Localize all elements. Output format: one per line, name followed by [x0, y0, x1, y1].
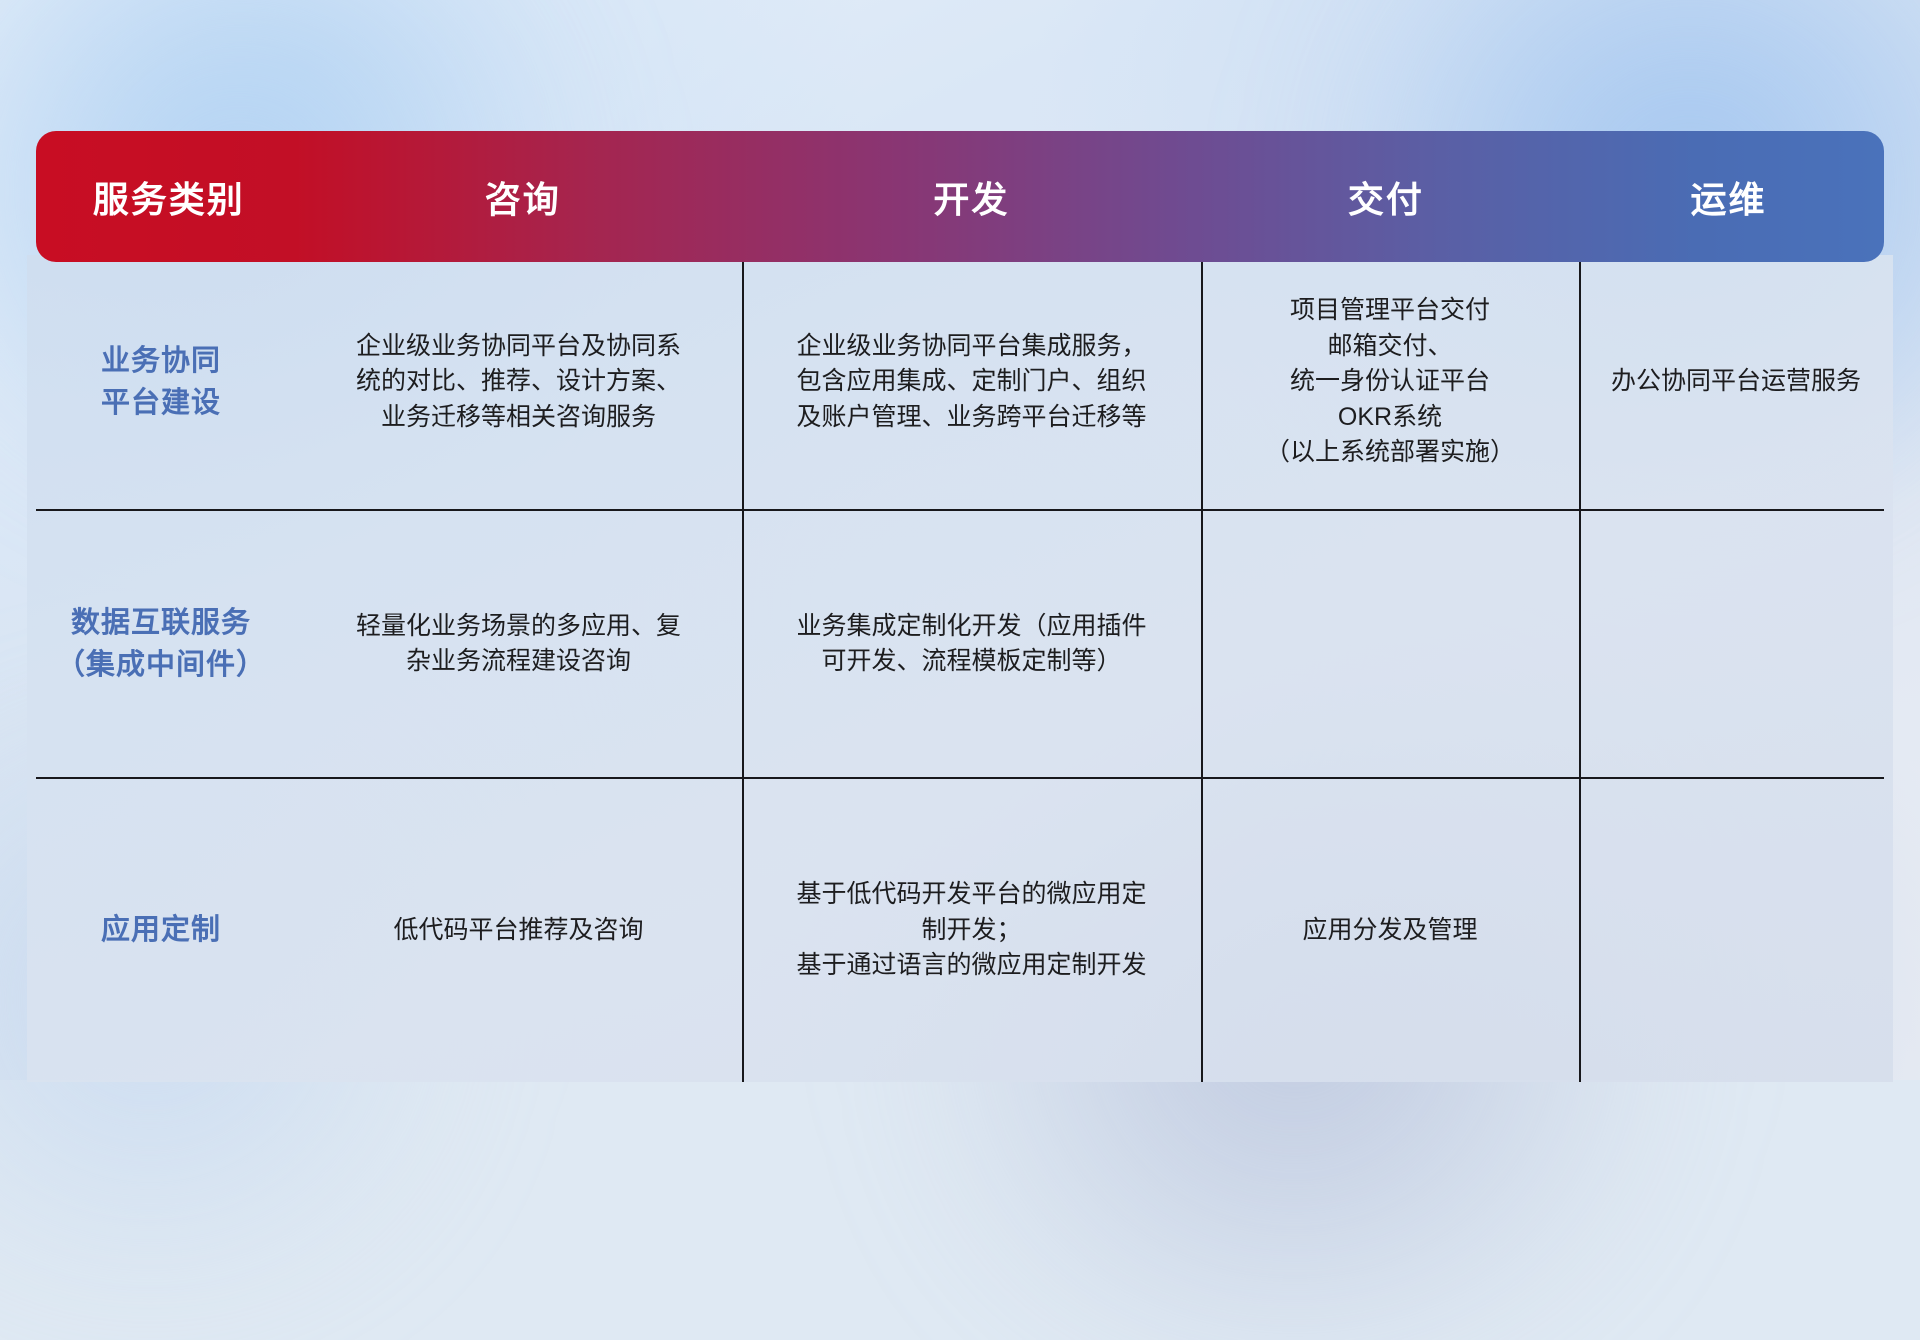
row-development-cell: 企业级业务协同平台集成服务， 包含应用集成、定制门户、组织 及账户管理、业务跨平… [742, 255, 1201, 509]
cell-text: 轻量化业务场景的多应用、复 杂业务流程建设咨询 [356, 609, 681, 680]
column-header-category: 服务类别 [36, 171, 301, 223]
column-header-delivery: 交付 [1199, 171, 1573, 223]
row-divider [36, 509, 1884, 511]
row-delivery-cell: 项目管理平台交付 邮箱交付、 统一身份认证平台 OKR系统 （以上系统部署实施） [1201, 255, 1579, 509]
row-category-cell: 数据互联服务 （集成中间件） [27, 511, 295, 777]
row-operations-cell [1579, 511, 1893, 777]
cell-text: 低代码平台推荐及咨询 [393, 913, 643, 949]
column-header-operations: 运维 [1573, 171, 1884, 223]
cell-text: 项目管理平台交付 邮箱交付、 统一身份认证平台 OKR系统 （以上系统部署实施） [1265, 293, 1515, 471]
category-label: 业务协同 平台建设 [101, 340, 221, 424]
row-development-cell: 基于低代码开发平台的微应用定 制开发； 基于通过语言的微应用定制开发 [742, 779, 1201, 1082]
cell-text: 业务集成定制化开发（应用插件 可开发、流程模板定制等） [796, 609, 1146, 680]
row-category-cell: 应用定制 [27, 779, 295, 1082]
table-header-row: 服务类别 咨询 开发 交付 运维 [36, 131, 1884, 262]
table-row: 应用定制 低代码平台推荐及咨询 基于低代码开发平台的微应用定 制开发； 基于通过… [27, 779, 1893, 1082]
column-header-development: 开发 [744, 171, 1199, 223]
row-operations-cell: 办公协同平台运营服务 [1579, 255, 1893, 509]
cell-text: 应用分发及管理 [1302, 913, 1477, 949]
column-divider-consulting-development [742, 255, 744, 1082]
row-consulting-cell: 低代码平台推荐及咨询 [295, 779, 742, 1082]
column-divider-delivery-operations [1579, 255, 1581, 1082]
column-header-consulting: 咨询 [301, 171, 744, 223]
category-label: 应用定制 [101, 909, 221, 951]
row-operations-cell [1579, 779, 1893, 1082]
column-divider-development-delivery [1201, 255, 1203, 1082]
table-row: 业务协同 平台建设 企业级业务协同平台及协同系 统的对比、推荐、设计方案、 业务… [27, 255, 1893, 509]
table-row: 数据互联服务 （集成中间件） 轻量化业务场景的多应用、复 杂业务流程建设咨询 业… [27, 511, 1893, 777]
cell-text: 企业级业务协同平台集成服务， 包含应用集成、定制门户、组织 及账户管理、业务跨平… [796, 329, 1146, 436]
service-category-table: 服务类别 咨询 开发 交付 运维 业务协同 平台建设 企业级业务协同平台及协同系… [27, 131, 1893, 949]
cell-text: 基于低代码开发平台的微应用定 制开发； 基于通过语言的微应用定制开发 [796, 877, 1146, 984]
cell-text: 企业级业务协同平台及协同系 统的对比、推荐、设计方案、 业务迁移等相关咨询服务 [356, 329, 681, 436]
row-category-cell: 业务协同 平台建设 [27, 255, 295, 509]
row-delivery-cell [1201, 511, 1579, 777]
row-delivery-cell: 应用分发及管理 [1201, 779, 1579, 1082]
row-development-cell: 业务集成定制化开发（应用插件 可开发、流程模板定制等） [742, 511, 1201, 777]
cell-text: 办公协同平台运营服务 [1611, 364, 1861, 400]
category-label: 数据互联服务 （集成中间件） [56, 602, 266, 686]
row-consulting-cell: 轻量化业务场景的多应用、复 杂业务流程建设咨询 [295, 511, 742, 777]
row-divider [36, 777, 1884, 779]
row-consulting-cell: 企业级业务协同平台及协同系 统的对比、推荐、设计方案、 业务迁移等相关咨询服务 [295, 255, 742, 509]
